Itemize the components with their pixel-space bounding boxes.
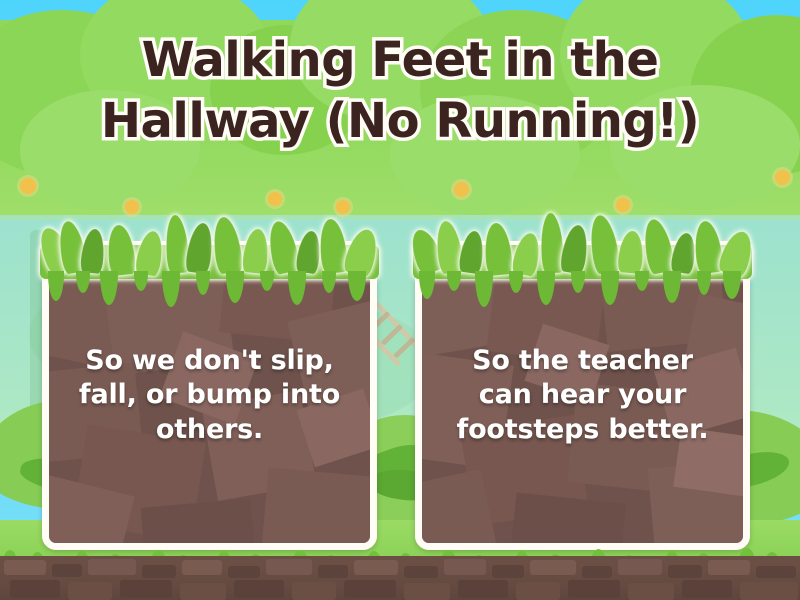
fruit-dot xyxy=(454,182,469,197)
fruit-dot xyxy=(775,170,790,185)
card-text: So the teacher can hear your footsteps b… xyxy=(438,241,727,550)
fruit-dot xyxy=(20,178,36,194)
reason-card-1[interactable]: So we don't slip, fall, or bump into oth… xyxy=(42,205,377,550)
page-title: Walking Feet in the Hallway (No Running!… xyxy=(0,30,800,153)
ground-dirt xyxy=(0,556,800,600)
poster-canvas: Walking Feet in the Hallway (No Running!… xyxy=(0,0,800,600)
card-text: So we don't slip, fall, or bump into oth… xyxy=(65,241,354,550)
reason-card-2[interactable]: So the teacher can hear your footsteps b… xyxy=(415,205,750,550)
fruit-dot xyxy=(268,192,282,206)
